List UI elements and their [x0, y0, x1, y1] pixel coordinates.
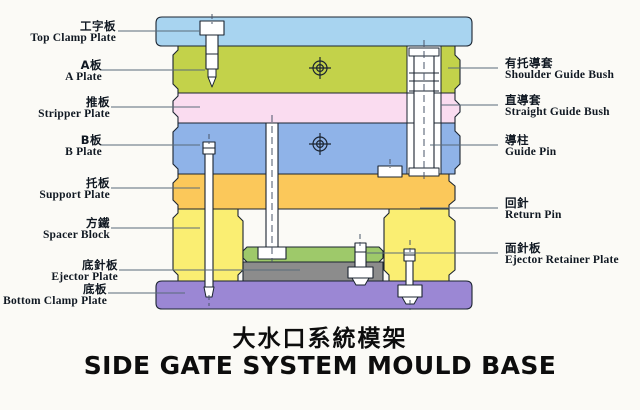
title-english: SIDE GATE SYSTEM MOULD BASE: [0, 351, 640, 380]
label-spacer-block: 方鐵 Spacer Block: [43, 217, 110, 241]
label-shoulder-guide-bush: 有托導套 Shoulder Guide Bush: [505, 57, 614, 81]
plate-support-plate: [173, 174, 455, 209]
plate-bottom-clamp-plate: [156, 281, 472, 309]
label-support-plate: 托板 Support Plate: [39, 177, 110, 201]
label-b-plate-en: B Plate: [65, 146, 102, 158]
label-stripper-plate-en: Stripper Plate: [38, 108, 110, 120]
label-guide-pin-en: Guide Pin: [505, 146, 556, 158]
label-a-plate: A板 A Plate: [65, 59, 102, 83]
label-top-clamp-plate-cn: 工字板: [30, 20, 116, 32]
label-guide-pin: 導柱 Guide Pin: [505, 134, 556, 158]
label-shoulder-guide-bush-cn: 有托導套: [505, 57, 614, 69]
label-a-plate-cn: A板: [65, 59, 102, 71]
label-straight-guide-bush: 直導套 Straight Guide Bush: [505, 94, 610, 118]
label-spacer-block-cn: 方鐵: [43, 217, 110, 229]
guide-pin-assembly: [409, 40, 439, 182]
label-b-plate-cn: B板: [65, 134, 102, 146]
label-stripper-plate: 推板 Stripper Plate: [38, 96, 110, 120]
label-ejector-retainer-plate-en: Ejector Retainer Plate: [505, 254, 619, 266]
label-top-clamp-plate: 工字板 Top Clamp Plate: [30, 20, 116, 44]
label-shoulder-guide-bush-en: Shoulder Guide Bush: [505, 69, 614, 81]
label-return-pin-en: Return Pin: [505, 209, 562, 221]
label-support-plate-cn: 托板: [39, 177, 110, 189]
label-ejector-retainer-plate-cn: 面針板: [505, 242, 619, 254]
label-top-clamp-plate-en: Top Clamp Plate: [30, 32, 116, 44]
plate-spacer-block-right: [384, 209, 455, 281]
label-bottom-clamp-plate-en: Bottom Clamp Plate: [3, 295, 107, 307]
label-straight-guide-bush-cn: 直導套: [505, 94, 610, 106]
label-return-pin-cn: 回針: [505, 197, 562, 209]
label-ejector-retainer-plate: 面針板 Ejector Retainer Plate: [505, 242, 619, 266]
label-bottom-clamp-plate-cn: 底板: [3, 283, 107, 295]
label-spacer-block-en: Spacer Block: [43, 229, 110, 241]
label-bottom-clamp-plate: 底板 Bottom Clamp Plate: [3, 283, 107, 307]
ejector-pin-left: [203, 134, 215, 306]
label-straight-guide-bush-en: Straight Guide Bush: [505, 106, 610, 118]
mould-base-diagram: 工字板 Top Clamp Plate A板 A Plate 推板 Stripp…: [0, 0, 640, 410]
label-ejector-plate-cn: 底針板: [51, 259, 118, 271]
label-stripper-plate-cn: 推板: [38, 96, 110, 108]
label-a-plate-en: A Plate: [65, 71, 102, 83]
label-ejector-plate: 底針板 Ejector Plate: [51, 259, 118, 283]
label-guide-pin-cn: 導柱: [505, 134, 556, 146]
title-chinese: 大水口系統模架: [0, 319, 640, 353]
label-support-plate-en: Support Plate: [39, 189, 110, 201]
label-b-plate: B板 B Plate: [65, 134, 102, 158]
label-return-pin: 回針 Return Pin: [505, 197, 562, 221]
